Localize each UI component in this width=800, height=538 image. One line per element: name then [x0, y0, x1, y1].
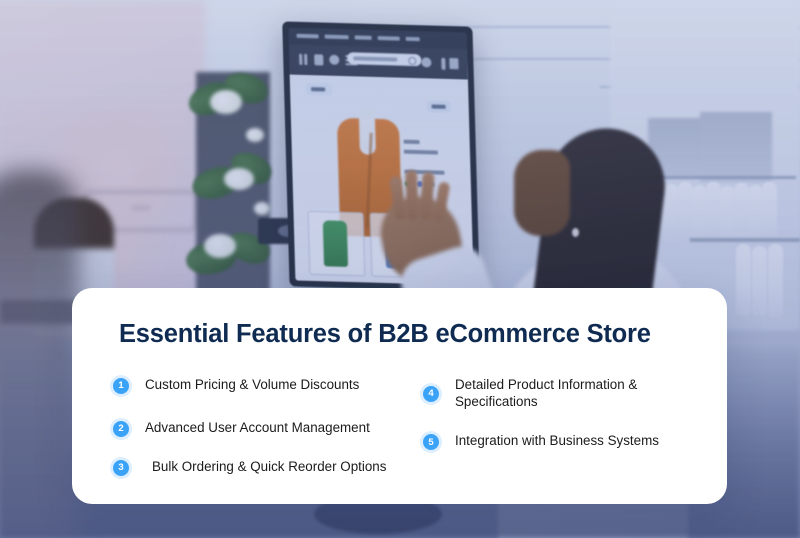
- feature-number-1: 1: [113, 378, 129, 394]
- feature-label-2: Advanced User Account Management: [132, 417, 370, 436]
- feature-item-3[interactable]: 3 Bulk Ordering & Quick Reorder Options: [110, 456, 430, 479]
- feature-number-3: 3: [113, 460, 129, 476]
- feature-badge-1: 1: [110, 375, 132, 397]
- feature-number-4: 4: [423, 386, 439, 402]
- feature-label-1: Custom Pricing & Volume Discounts: [132, 374, 359, 393]
- feature-badge-5: 5: [420, 431, 442, 453]
- feature-number-2: 2: [113, 421, 129, 437]
- feature-badge-3: 3: [110, 457, 132, 479]
- page-title: Essential Features of B2B eCommerce Stor…: [119, 320, 651, 349]
- features-card: Essential Features of B2B eCommerce Stor…: [72, 288, 727, 504]
- feature-badge-2: 2: [110, 418, 132, 440]
- feature-item-2[interactable]: 2 Advanced User Account Management: [110, 417, 430, 440]
- feature-number-5: 5: [423, 434, 439, 450]
- feature-label-5: Integration with Business Systems: [442, 430, 659, 449]
- feature-item-5[interactable]: 5 Integration with Business Systems: [420, 430, 710, 453]
- feature-label-4: Detailed Product Information & Specifica…: [442, 374, 655, 410]
- features-column-left: 1 Custom Pricing & Volume Discounts 2 Ad…: [110, 374, 430, 496]
- feature-item-1[interactable]: 1 Custom Pricing & Volume Discounts: [110, 374, 430, 397]
- features-column-right: 4 Detailed Product Information & Specifi…: [420, 374, 710, 470]
- feature-item-4[interactable]: 4 Detailed Product Information & Specifi…: [420, 374, 710, 410]
- screenshot-root: Essential Features of B2B eCommerce Stor…: [0, 0, 800, 538]
- feature-badge-4: 4: [420, 383, 442, 405]
- feature-label-3: Bulk Ordering & Quick Reorder Options: [132, 456, 386, 475]
